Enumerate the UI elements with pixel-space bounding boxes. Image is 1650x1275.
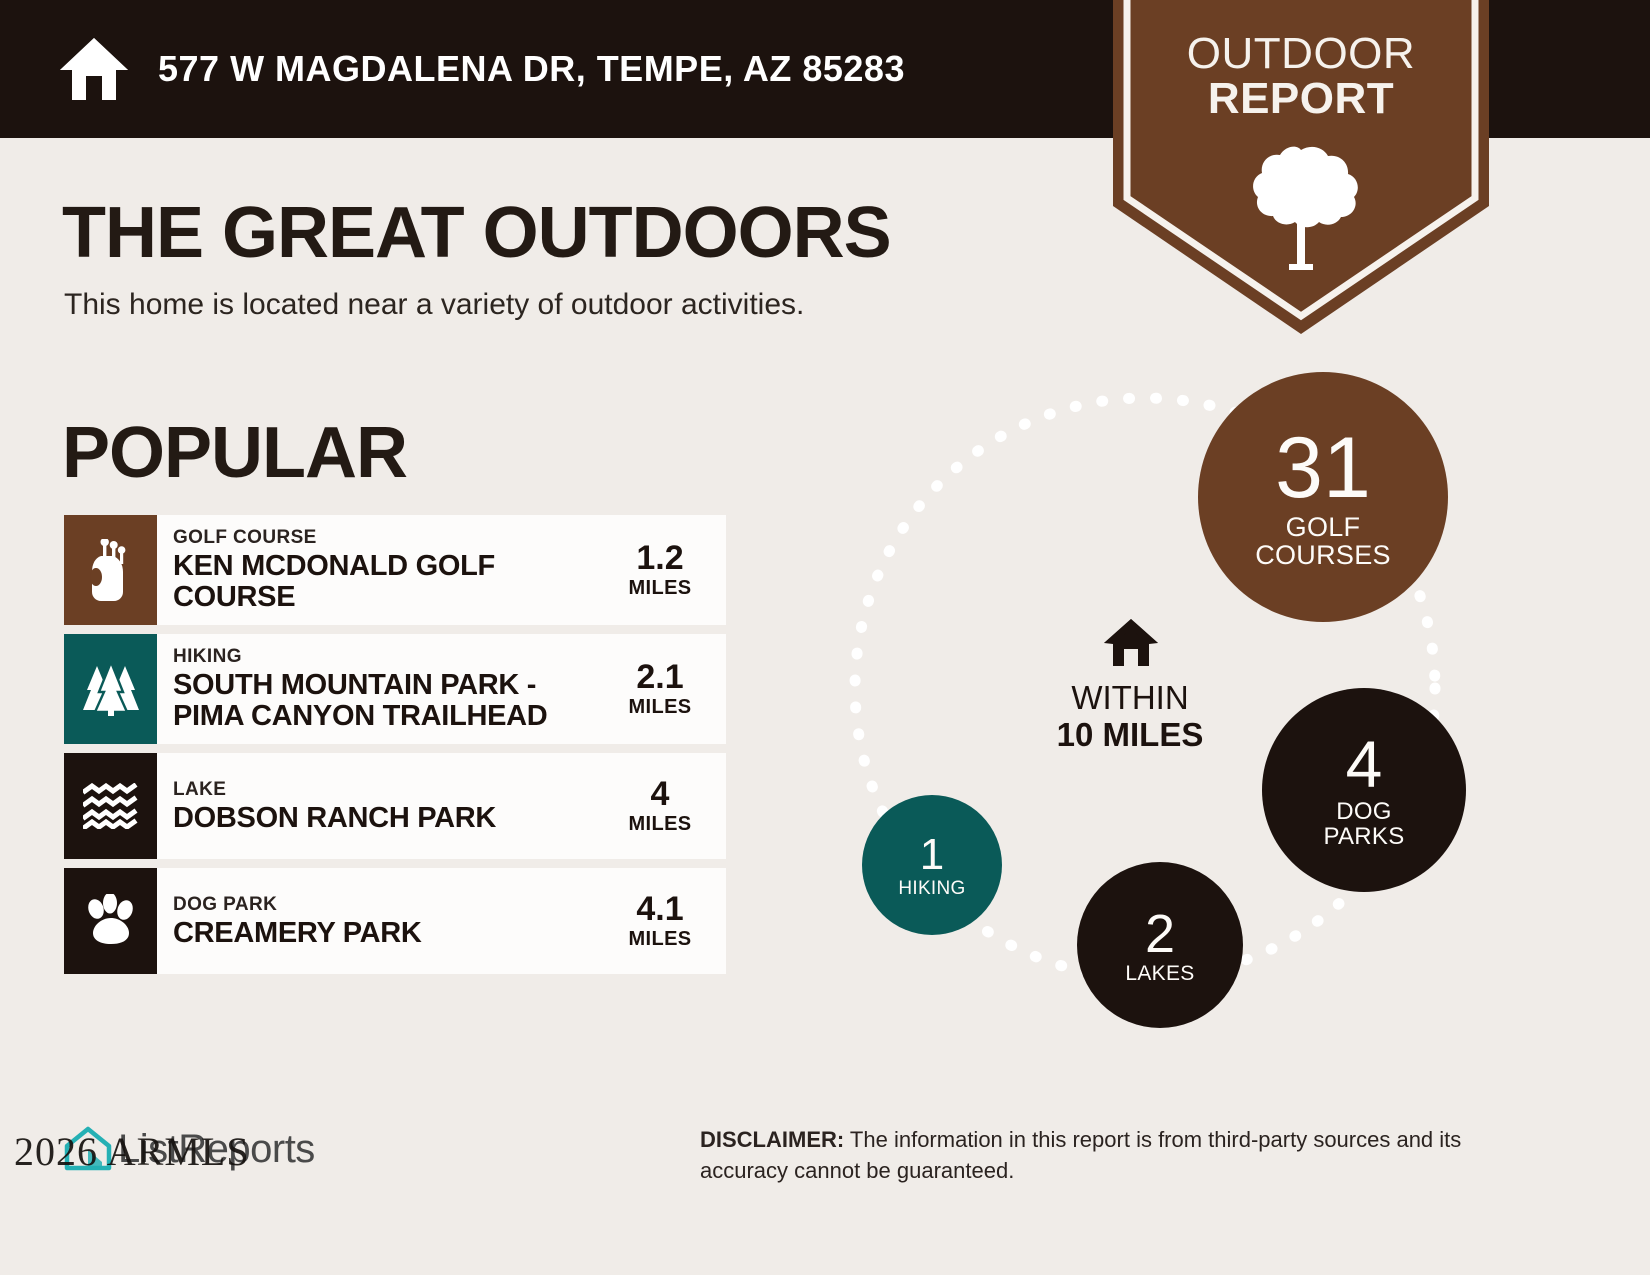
popular-list: GOLF COURSE KEN MCDONALD GOLF COURSE 1.2… [64, 515, 726, 983]
list-item[interactable]: HIKING SOUTH MOUNTAIN PARK - PIMA CANYON… [64, 634, 726, 744]
home-icon [1103, 618, 1159, 668]
property-address: 577 W MAGDALENA DR, TEMPE, AZ 85283 [158, 48, 905, 90]
stat-count: 1 [920, 833, 944, 877]
list-item-name: SOUTH MOUNTAIN PARK - PIMA CANYON TRAILH… [173, 670, 600, 732]
golf-bag-icon [64, 515, 157, 625]
distance-unit: MILES [608, 577, 712, 600]
list-item-name: DOBSON RANCH PARK [173, 803, 600, 834]
within-radius-caption: WITHIN 10 MILES [975, 680, 1285, 754]
stat-bubble-golf-courses[interactable]: 31 GOLF COURSES [1198, 372, 1448, 622]
distance-value: 4 [608, 777, 712, 811]
stat-bubble-hiking[interactable]: 1 HIKING [862, 795, 1002, 935]
stat-bubble-dog-parks[interactable]: 4 DOG PARKS [1262, 688, 1466, 892]
list-item-distance: 4.1 MILES [608, 892, 726, 951]
disclaimer-label: DISCLAIMER: [700, 1127, 844, 1152]
armls-watermark: 2026 ARMLS [14, 1128, 250, 1175]
stat-label-line1: LAKES [1125, 963, 1194, 984]
stat-count: 31 [1275, 425, 1371, 511]
distance-unit: MILES [608, 696, 712, 719]
list-item-category: DOG PARK [173, 894, 600, 916]
outdoor-report-page: 577 W MAGDALENA DR, TEMPE, AZ 85283 OUTD… [0, 0, 1650, 1275]
list-item[interactable]: LAKE DOBSON RANCH PARK 4 MILES [64, 753, 726, 859]
list-item-category: HIKING [173, 646, 600, 668]
disclaimer: DISCLAIMER: The information in this repo… [700, 1124, 1512, 1186]
paw-print-icon [64, 868, 157, 974]
list-item[interactable]: GOLF COURSE KEN MCDONALD GOLF COURSE 1.2… [64, 515, 726, 625]
stat-bubble-lakes[interactable]: 2 LAKES [1077, 862, 1243, 1028]
list-item-name: KEN MCDONALD GOLF COURSE [173, 551, 600, 613]
pine-trees-icon [64, 634, 157, 744]
distance-unit: MILES [608, 928, 712, 951]
water-waves-icon [64, 753, 157, 859]
distance-value: 2.1 [608, 660, 712, 694]
stat-label-line1: DOG [1336, 799, 1392, 824]
popular-heading: POPULAR [62, 412, 407, 494]
stat-count: 2 [1145, 907, 1175, 961]
within-line2: 10 MILES [975, 717, 1285, 754]
home-icon [58, 36, 130, 102]
within-line1: WITHIN [975, 680, 1285, 717]
outdoor-report-badge: OUTDOOR REPORT [1113, 0, 1489, 338]
list-item[interactable]: DOG PARK CREAMERY PARK 4.1 MILES [64, 868, 726, 974]
distance-unit: MILES [608, 813, 712, 836]
stat-label-line1: HIKING [898, 879, 965, 898]
list-item-distance: 2.1 MILES [608, 660, 726, 719]
stat-label-line2: PARKS [1323, 824, 1404, 849]
stat-label-line1: GOLF [1286, 513, 1361, 541]
list-item-category: LAKE [173, 779, 600, 801]
page-subtitle: This home is located near a variety of o… [64, 288, 804, 322]
list-item-distance: 4 MILES [608, 777, 726, 836]
list-item-category: GOLF COURSE [173, 527, 600, 549]
page-title: THE GREAT OUTDOORS [62, 192, 891, 274]
list-item-distance: 1.2 MILES [608, 541, 726, 600]
stat-count: 4 [1346, 731, 1383, 797]
distance-value: 4.1 [608, 892, 712, 926]
list-item-name: CREAMERY PARK [173, 918, 600, 949]
distance-value: 1.2 [608, 541, 712, 575]
stat-label-line2: COURSES [1255, 541, 1391, 569]
